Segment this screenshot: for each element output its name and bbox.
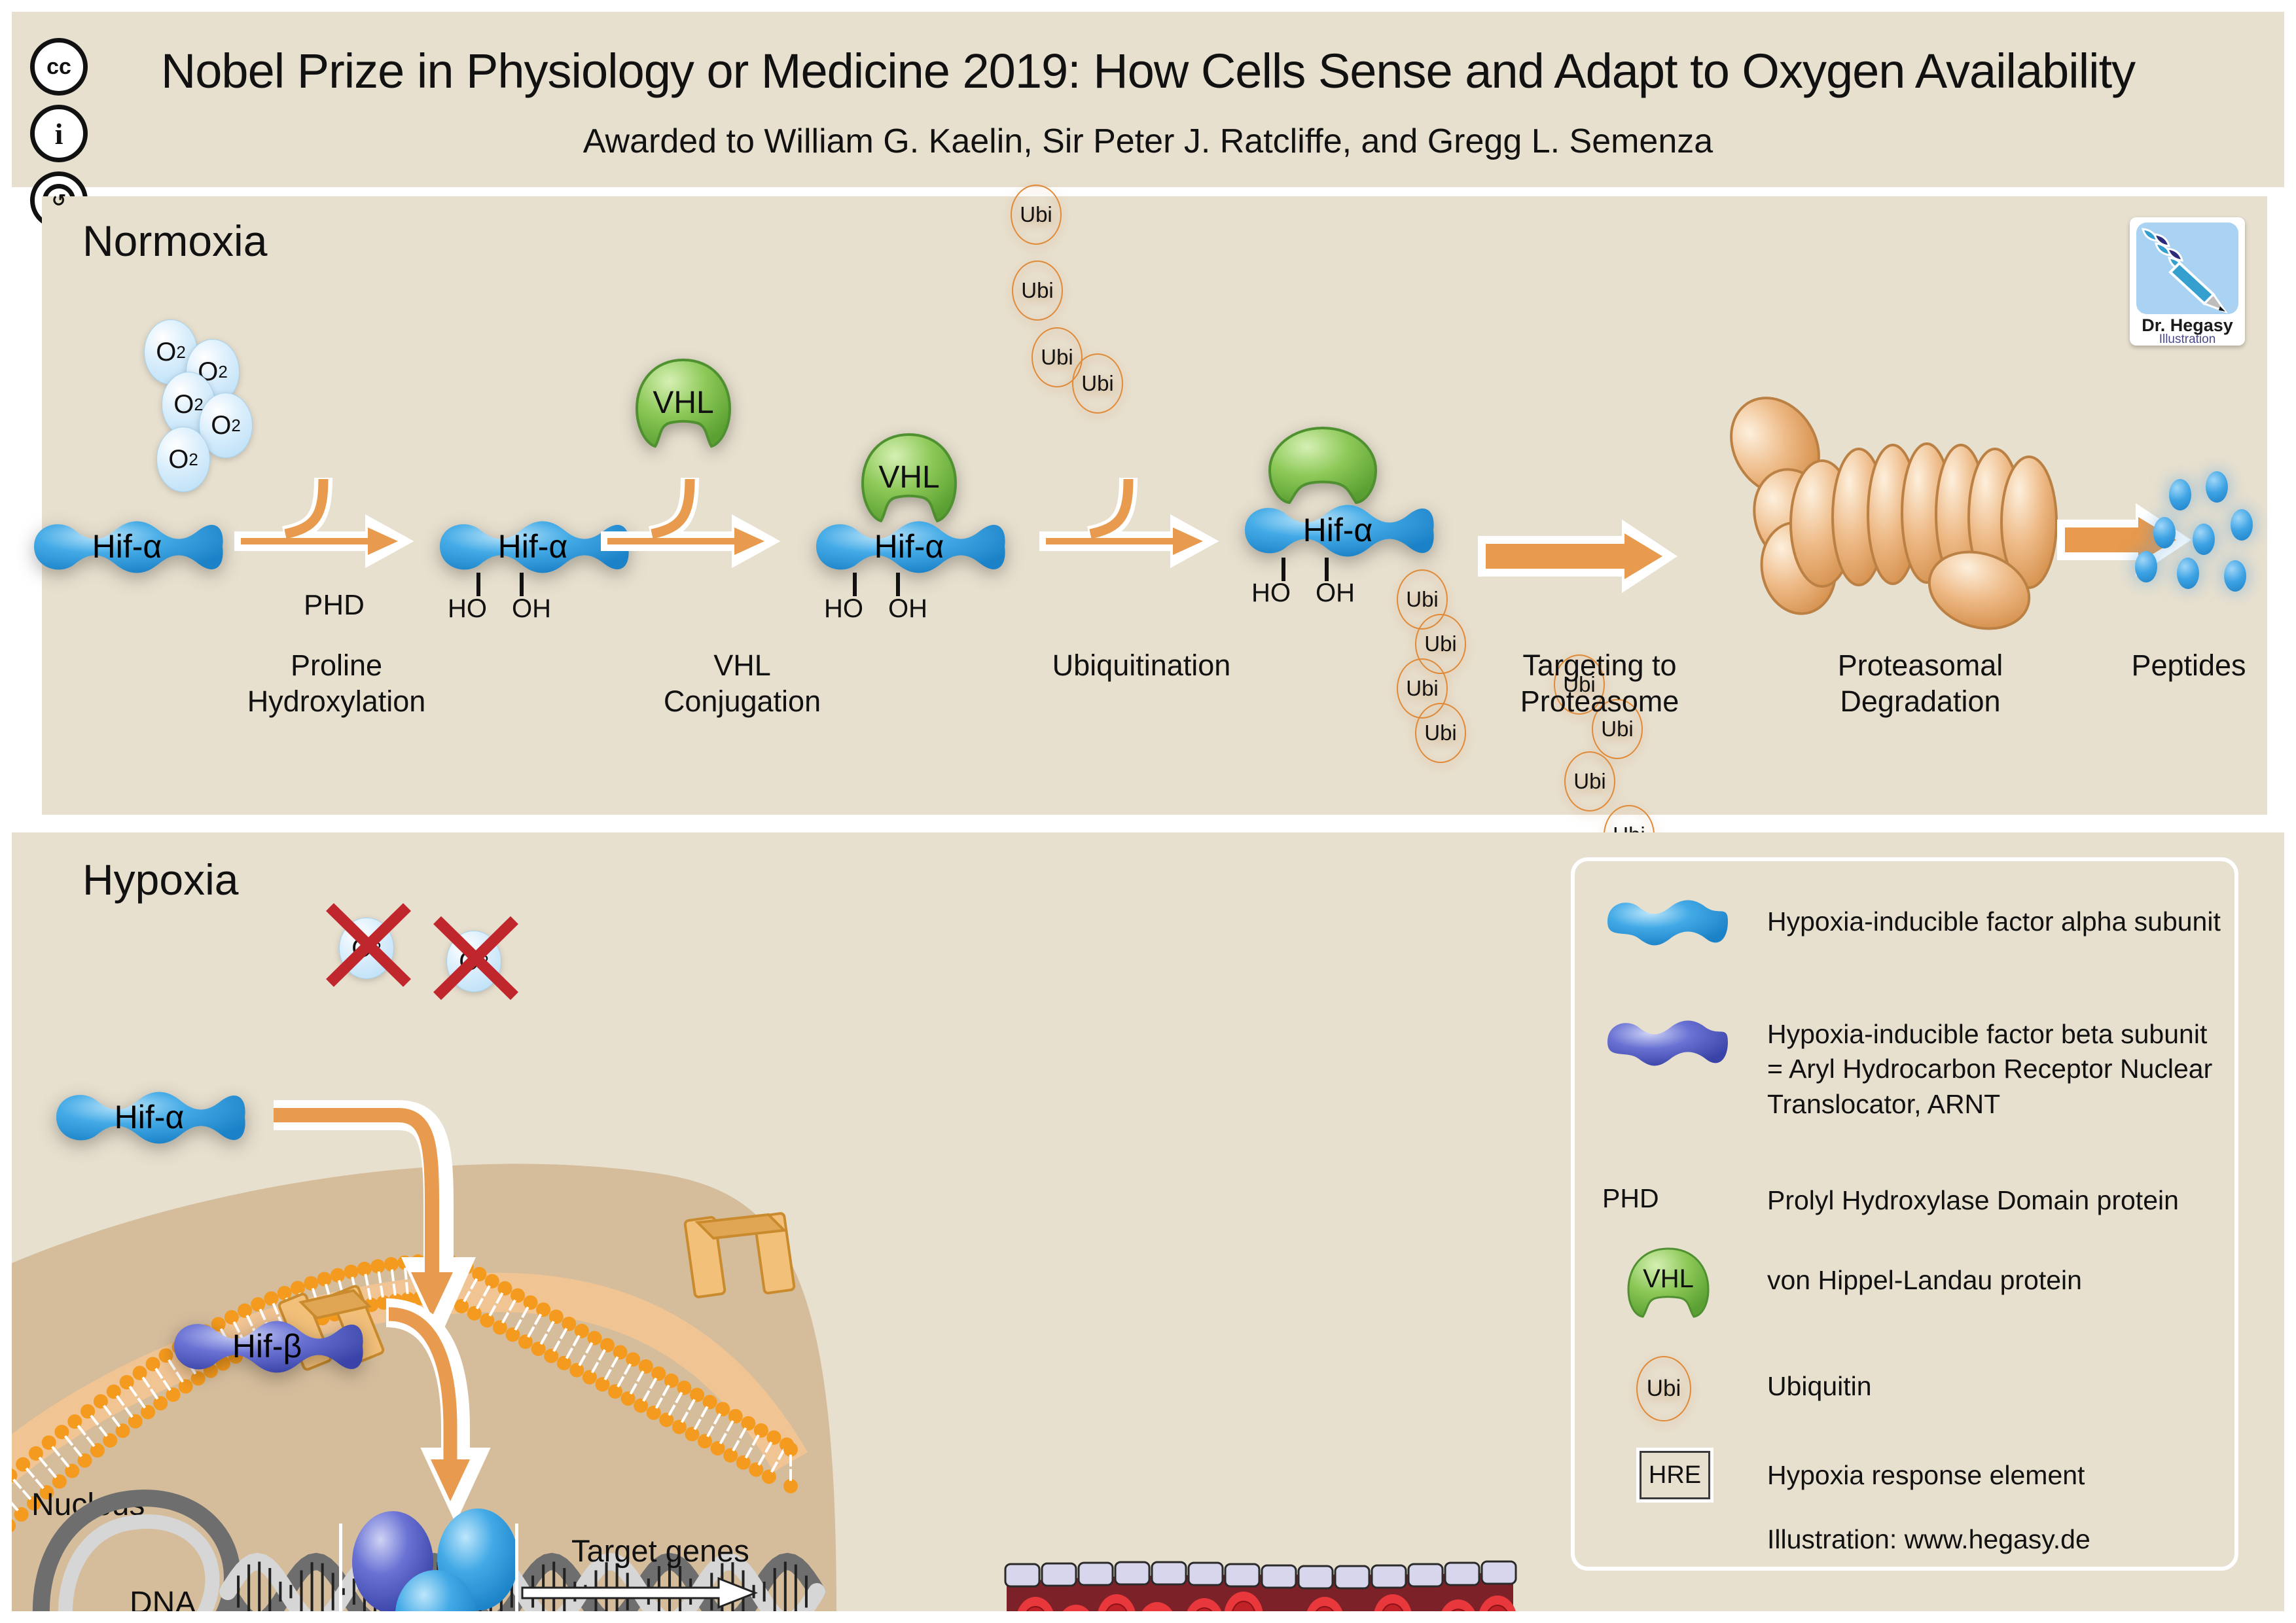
legend-item-phd: PHD Prolyl Hydroxylase Domain protein <box>1602 1183 2179 1218</box>
legend-panel: Hypoxia-inducible factor alpha subunit H… <box>1571 857 2238 1571</box>
ubiquitin: Ubi <box>1012 260 1063 321</box>
illustration-credit: Illustration: www.hegasy.de <box>1767 1522 2090 1557</box>
stage-label-proline-hydroxylation: Proline Hydroxylation <box>206 648 467 720</box>
hif-beta-blob-icon <box>1602 1010 1733 1073</box>
hif-alpha-blob-icon <box>1602 890 1733 953</box>
transcription-arrow <box>522 1578 771 1611</box>
vhl-icon-label: VHL <box>1626 1264 1711 1294</box>
legend-item-hif-alpha: Hypoxia-inducible factor alpha subunit <box>1602 890 2221 953</box>
cross-out-icon <box>428 911 526 1009</box>
hre-box-icon: HRE <box>1602 1445 1733 1505</box>
ubiquitin: Ubi <box>1072 353 1123 414</box>
hif-alpha-label: Hif-α <box>498 527 568 565</box>
ho-label: HO <box>448 594 487 624</box>
legend-text: Prolyl Hydroxylase Domain protein <box>1767 1183 2179 1218</box>
normoxia-title: Normoxia <box>82 216 267 266</box>
oh-label: OH <box>888 594 927 624</box>
logo-artwork <box>2136 223 2238 314</box>
ho-label: HO <box>824 594 863 624</box>
legend-item-hif-beta: Hypoxia-inducible factor beta subunit = … <box>1602 1010 2212 1122</box>
peptide <box>2193 524 2215 555</box>
legend-item-ubiquitin: Ubi Ubiquitin <box>1602 1353 1872 1419</box>
stage-label-proteasomal-degradation: Proteasomal Degradation <box>1750 648 2090 720</box>
legend-text: Ubiquitin <box>1767 1369 1872 1404</box>
peptide <box>2177 558 2199 589</box>
vhl-label: VHL <box>634 385 732 421</box>
hre-icon-label: HRE <box>1640 1451 1710 1499</box>
logo-subtitle: Illustration <box>2130 332 2245 347</box>
hif-alpha-label: Hif-α <box>115 1098 185 1136</box>
hif-alpha-label: Hif-α <box>1303 511 1373 549</box>
normoxia-panel: Normoxia <box>42 196 2267 815</box>
peptide <box>2153 517 2176 548</box>
hegasy-logo: Dr. Hegasy Illustration <box>2130 217 2245 346</box>
phd-label: PHD <box>304 589 365 622</box>
hif-beta-protein: Hif-β <box>169 1310 365 1382</box>
vhl-shape-icon: VHL <box>1602 1246 1733 1318</box>
hif-alpha-polyubiquitinated: Hif-α <box>1240 494 1436 566</box>
page-subtitle: Awarded to William G. Kaelin, Sir Peter … <box>12 122 2284 161</box>
vhl-protein-bound <box>1267 425 1378 504</box>
hif-alpha-protein: Hif-α <box>29 510 225 582</box>
peptide <box>2135 551 2157 582</box>
legend-text: von Hippel-Landau protein <box>1767 1263 2082 1298</box>
vhl-protein: VHL <box>634 357 732 449</box>
ubiquitination-arrow <box>1043 478 1227 596</box>
stage-label-ubiquitination: Ubiquitination <box>971 648 1312 684</box>
oh-label: OH <box>512 594 551 624</box>
hif-alpha-vhl-complex: Hif-α <box>811 510 1007 582</box>
vhl-conjugation-arrow <box>605 478 788 596</box>
hif-alpha-label: Hif-α <box>92 527 162 565</box>
hif-beta-label: Hif-β <box>232 1327 302 1365</box>
ubi-oval-icon: Ubi <box>1602 1353 1733 1419</box>
blood-vessel-erythrocytes <box>1000 1559 1524 1611</box>
vhl-protein-bound: VHL <box>860 432 958 524</box>
ubiquitin: Ubi <box>1564 751 1615 811</box>
target-genes-label: Target genes <box>571 1533 749 1569</box>
stage-label-vhl-conjugation: VHL Conjugation <box>611 648 873 720</box>
cross-out-icon <box>321 898 419 996</box>
legend-key-phd: PHD <box>1602 1183 1733 1214</box>
oh-label: OH <box>1316 579 1355 608</box>
header-panel: cc i ↺ Nobel Prize in Physiology or Medi… <box>12 12 2284 187</box>
hif-alpha-label: Hif-α <box>874 527 944 565</box>
legend-text: Hypoxia-inducible factor alpha subunit <box>1767 904 2221 939</box>
ubi-icon-label: Ubi <box>1636 1356 1691 1421</box>
hre-bracket <box>339 1524 518 1611</box>
stage-label-targeting-proteasome: Targeting to Proteasome <box>1456 648 1744 720</box>
peptide <box>2169 479 2191 510</box>
hif-alpha-protein: Hif-α <box>51 1081 247 1153</box>
targeting-arrow <box>1482 527 1678 586</box>
ubiquitin: Ubi <box>1011 185 1062 245</box>
peptide <box>2206 471 2228 503</box>
legend-item-vhl: VHL von Hippel-Landau protein <box>1602 1246 2082 1318</box>
phd-reaction-arrow <box>238 478 422 596</box>
legend-text: Hypoxia-inducible factor beta subunit = … <box>1767 1017 2212 1122</box>
legend-item-hre: HRE Hypoxia response element <box>1602 1445 2085 1505</box>
page-title: Nobel Prize in Physiology or Medicine 20… <box>12 43 2284 99</box>
vhl-label: VHL <box>860 459 958 495</box>
o2-molecule: O2 <box>156 427 210 492</box>
peptide <box>2231 509 2253 541</box>
nuclear-pore <box>686 1212 810 1317</box>
ho-label: HO <box>1251 579 1291 608</box>
legend-text: Hypoxia response element <box>1767 1458 2085 1493</box>
stage-label-peptides: Peptides <box>2090 648 2287 684</box>
peptide <box>2224 560 2246 592</box>
